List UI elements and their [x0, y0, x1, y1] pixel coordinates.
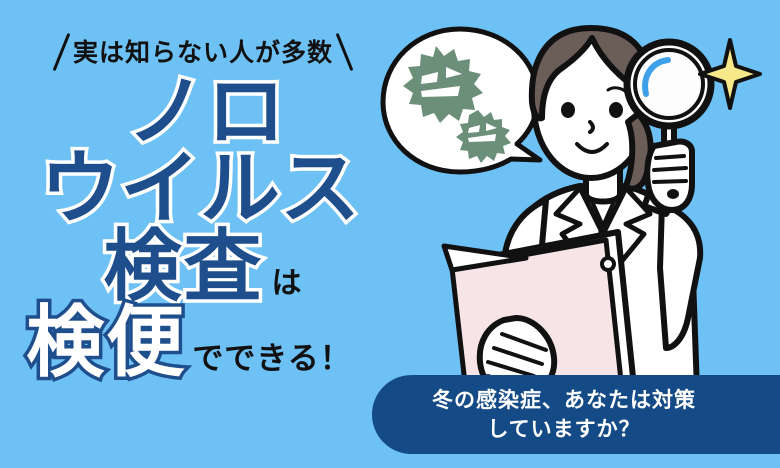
- badge-line-2: していますか？: [487, 415, 640, 443]
- headline-row-3: 検査 は: [6, 229, 400, 305]
- headline-line-3-particle: は: [272, 269, 303, 298]
- left-eye: [561, 102, 575, 118]
- magnifier-lens: [627, 42, 711, 126]
- right-slash-icon: [336, 33, 354, 71]
- headline-row-1: ノロ: [14, 74, 400, 150]
- badge-line-1: 冬の感染症、あなたは対策: [432, 386, 696, 414]
- headline-row-2: ウイルス: [0, 150, 400, 228]
- headline-line-3-main: 検査: [103, 229, 263, 305]
- status-badge: 冬の感染症、あなたは対策 していますか？: [372, 375, 780, 454]
- headline-line-4-main: 検便: [26, 305, 186, 381]
- headline-line-2: ウイルス: [40, 150, 360, 228]
- kicker-text: 実は知らない人が多数: [73, 40, 333, 65]
- noro-virus-banner: 実は知らない人が多数 ノロ ウイルス 検査 は 検便 でできる！: [0, 0, 780, 468]
- headline-block: ノロ ウイルス 検査 は 検便 でできる！: [0, 74, 400, 382]
- headline-line-4-trail: でできる！: [192, 344, 351, 374]
- left-slash-icon: [53, 33, 71, 71]
- headline-row-4: 検便 でできる！: [0, 305, 400, 381]
- right-hand: [647, 141, 692, 210]
- right-eye: [609, 102, 623, 118]
- headline-line-1: ノロ: [127, 74, 287, 150]
